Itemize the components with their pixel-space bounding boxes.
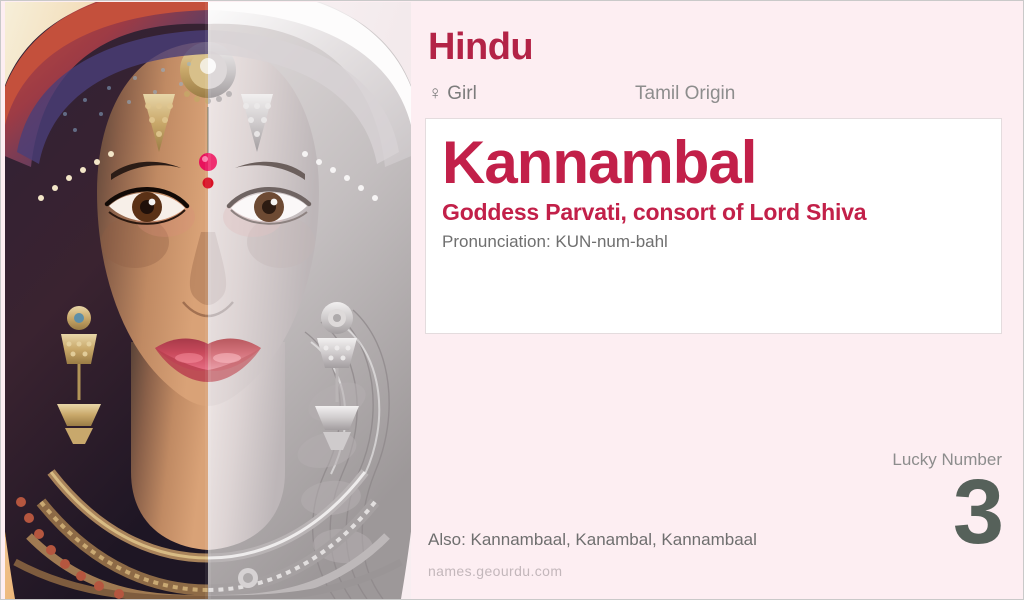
name-meaning: Goddess Parvati, consort of Lord Shiva xyxy=(442,199,985,226)
name-pronunciation: Pronunciation: KUN-num-bahl xyxy=(442,232,985,252)
portrait-image xyxy=(5,2,411,599)
name-detail-card: Kannambal Goddess Parvati, consort of Lo… xyxy=(425,118,1002,334)
name-card-graphic: Hindu ♀Girl Tamil Origin Kannambal Godde… xyxy=(0,0,1024,600)
religion-title: Hindu xyxy=(428,28,533,66)
alternate-spellings: Also: Kannambaal, Kanambal, Kannambaal xyxy=(428,530,757,550)
site-watermark: names.geourdu.com xyxy=(428,563,562,579)
info-pane: Hindu ♀Girl Tamil Origin Kannambal Godde… xyxy=(411,1,1023,599)
portrait-illustration xyxy=(5,2,411,599)
lucky-number-block: Lucky Number 3 xyxy=(802,451,1002,555)
gender-label: ♀Girl xyxy=(428,83,477,105)
origin-label: Tamil Origin xyxy=(635,83,735,105)
gender-text: Girl xyxy=(447,83,477,104)
female-symbol-icon: ♀ xyxy=(428,83,442,104)
lucky-number-value: 3 xyxy=(802,470,1002,555)
meta-row: ♀Girl Tamil Origin xyxy=(428,83,988,109)
name-heading: Kannambal xyxy=(442,131,985,194)
